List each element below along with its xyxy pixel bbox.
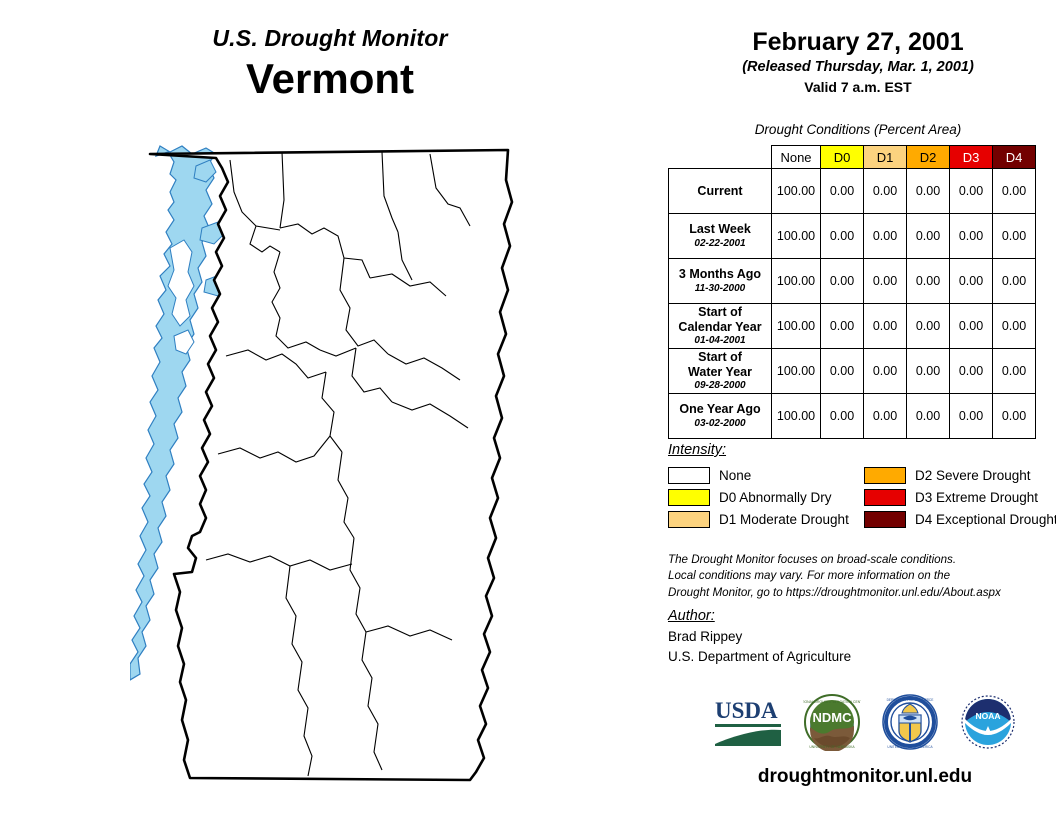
cell-none: 100.00 [772, 259, 821, 304]
legend-label-d1: D1 Moderate Drought [719, 512, 849, 527]
table-caption: Drought Conditions (Percent Area) [660, 122, 1056, 137]
logo-row: USDA NDMC NATIONAL DROUGHT MITIGATION CE… [660, 688, 1056, 760]
row-label-start-calendar-year: Start of Calendar Year 01-04-2001 [669, 304, 772, 349]
noaa-logo[interactable]: NOAA [959, 693, 1017, 756]
cell-d1: 0.00 [864, 349, 907, 394]
row-label-text-line2: Calendar Year [678, 320, 761, 334]
vermont-drought-map[interactable] [130, 140, 550, 790]
cell-d3: 0.00 [950, 349, 993, 394]
cell-d2: 0.00 [907, 214, 950, 259]
valid-date: February 27, 2001 [660, 28, 1056, 56]
legend-swatch-none [668, 467, 710, 484]
legend-swatch-d0 [668, 489, 710, 506]
legend-item-d4: D4 Exceptional Drought [864, 511, 1054, 528]
cell-d0: 0.00 [821, 304, 864, 349]
usda-logo[interactable]: USDA [713, 694, 783, 755]
info-panel: February 27, 2001 (Released Thursday, Ma… [660, 0, 1056, 816]
legend-swatch-d3 [864, 489, 906, 506]
note-line-2: Local conditions may vary. For more info… [668, 568, 1048, 584]
table-row: 3 Months Ago 11-30-2000 100.00 0.00 0.00… [669, 259, 1036, 304]
row-label-text: One Year Ago [679, 402, 760, 416]
cell-d1: 0.00 [864, 304, 907, 349]
ndmc-logo-text: NDMC [813, 710, 853, 725]
usdc-ring-bottom-text: UNITED STATES OF AMERICA [887, 745, 933, 749]
cell-d2: 0.00 [907, 169, 950, 214]
row-label-3-months-ago: 3 Months Ago 11-30-2000 [669, 259, 772, 304]
legend-swatch-d4 [864, 511, 906, 528]
cell-d0: 0.00 [821, 214, 864, 259]
cell-d4: 0.00 [993, 349, 1036, 394]
column-header-d1: D1 [864, 146, 907, 169]
legend-item-d0: D0 Abnormally Dry [668, 489, 864, 506]
noaa-logo-text: NOAA [975, 711, 1000, 721]
row-label-one-year-ago: One Year Ago 03-02-2000 [669, 394, 772, 439]
legend-item-none: None [668, 467, 864, 484]
cell-d3: 0.00 [950, 394, 993, 439]
row-label-text-line1: Start of [698, 350, 742, 364]
cell-d0: 0.00 [821, 169, 864, 214]
legend-label-d3: D3 Extreme Drought [915, 490, 1038, 505]
table-row: Current 100.00 0.00 0.00 0.00 0.00 0.00 [669, 169, 1036, 214]
ndmc-ring-bottom-text: UNIVERSITY OF NEBRASKA [809, 745, 855, 749]
cell-d1: 0.00 [864, 394, 907, 439]
legend-item-d1: D1 Moderate Drought [668, 511, 864, 528]
author-block: Author: Brad Rippey U.S. Department of A… [668, 608, 1048, 666]
cell-d1: 0.00 [864, 169, 907, 214]
cell-d3: 0.00 [950, 214, 993, 259]
legend-title: Intensity: [668, 442, 1048, 458]
row-label-date: 11-30-2000 [672, 283, 768, 295]
row-label-text-line2: Water Year [688, 365, 752, 379]
cell-d1: 0.00 [864, 214, 907, 259]
table-row: Last Week 02-22-2001 100.00 0.00 0.00 0.… [669, 214, 1036, 259]
cell-d0: 0.00 [821, 259, 864, 304]
legend-label-d2: D2 Severe Drought [915, 468, 1031, 483]
page-title: U.S. Drought Monitor [0, 26, 660, 51]
cell-none: 100.00 [772, 214, 821, 259]
vermont-state-outline [150, 150, 512, 780]
row-label-text-line1: Start of [698, 305, 742, 319]
author-title: Author: [668, 608, 1048, 624]
disclaimer-note: The Drought Monitor focuses on broad-sca… [668, 552, 1048, 601]
column-header-d3: D3 [950, 146, 993, 169]
date-block: February 27, 2001 (Released Thursday, Ma… [660, 28, 1056, 95]
usdc-seal-logo[interactable]: DEPARTMENT OF COMMERCE UNITED STATES OF … [881, 693, 939, 756]
table-row: One Year Ago 03-02-2000 100.00 0.00 0.00… [669, 394, 1036, 439]
state-title: Vermont [0, 55, 660, 103]
row-label-current: Current [669, 169, 772, 214]
note-line-1: The Drought Monitor focuses on broad-sca… [668, 552, 1048, 568]
table-row: Start of Calendar Year 01-04-2001 100.00… [669, 304, 1036, 349]
cell-none: 100.00 [772, 304, 821, 349]
usdc-ring-top-text: DEPARTMENT OF COMMERCE [887, 698, 934, 702]
cell-d4: 0.00 [993, 259, 1036, 304]
cell-d2: 0.00 [907, 304, 950, 349]
table-row: Start of Water Year 09-28-2000 100.00 0.… [669, 349, 1036, 394]
cell-d0: 0.00 [821, 349, 864, 394]
column-header-d0: D0 [821, 146, 864, 169]
legend-label-d4: D4 Exceptional Drought [915, 512, 1056, 527]
cell-d4: 0.00 [993, 214, 1036, 259]
ndmc-logo[interactable]: NDMC NATIONAL DROUGHT MITIGATION CENTER … [803, 693, 861, 756]
note-line-3: Drought Monitor, go to https://droughtmo… [668, 585, 1048, 601]
column-header-d2: D2 [907, 146, 950, 169]
cell-d4: 0.00 [993, 169, 1036, 214]
cell-d0: 0.00 [821, 394, 864, 439]
valid-time: Valid 7 a.m. EST [660, 79, 1056, 95]
legend-item-d3: D3 Extreme Drought [864, 489, 1054, 506]
legend-label-none: None [719, 468, 751, 483]
site-url[interactable]: droughtmonitor.unl.edu [660, 766, 1056, 788]
author-name: Brad Rippey [668, 627, 1048, 647]
cell-d3: 0.00 [950, 304, 993, 349]
drought-conditions-table: None D0 D1 D2 D3 D4 Current 100.00 0.00 … [668, 145, 1036, 439]
cell-d1: 0.00 [864, 259, 907, 304]
ndmc-ring-top-text: NATIONAL DROUGHT MITIGATION CENTER [803, 700, 861, 704]
cell-d4: 0.00 [993, 394, 1036, 439]
cell-d3: 0.00 [950, 169, 993, 214]
row-label-text: 3 Months Ago [679, 267, 761, 281]
legend-item-d2: D2 Severe Drought [864, 467, 1054, 484]
cell-none: 100.00 [772, 169, 821, 214]
row-label-last-week: Last Week 02-22-2001 [669, 214, 772, 259]
author-organization: U.S. Department of Agriculture [668, 647, 1048, 667]
release-date: (Released Thursday, Mar. 1, 2001) [660, 59, 1056, 75]
cell-d3: 0.00 [950, 259, 993, 304]
table-header-row: None D0 D1 D2 D3 D4 [669, 146, 1036, 169]
row-label-date: 03-02-2000 [672, 418, 768, 430]
legend-label-d0: D0 Abnormally Dry [719, 490, 832, 505]
table-corner-cell [669, 146, 772, 169]
usda-logo-text: USDA [715, 698, 778, 723]
column-header-none: None [772, 146, 821, 169]
row-label-text: Last Week [689, 222, 751, 236]
map-panel: U.S. Drought Monitor Vermont [0, 0, 660, 816]
legend-swatch-d2 [864, 467, 906, 484]
row-label-date: 01-04-2001 [672, 335, 768, 347]
row-label-text: Current [697, 184, 742, 198]
cell-d2: 0.00 [907, 349, 950, 394]
cell-d4: 0.00 [993, 304, 1036, 349]
cell-none: 100.00 [772, 394, 821, 439]
intensity-legend: Intensity: None D2 Severe Drought D0 Abn… [668, 442, 1048, 530]
cell-d2: 0.00 [907, 259, 950, 304]
title-block: U.S. Drought Monitor Vermont [0, 26, 660, 104]
cell-d2: 0.00 [907, 394, 950, 439]
cell-none: 100.00 [772, 349, 821, 394]
legend-swatch-d1 [668, 511, 710, 528]
row-label-date: 02-22-2001 [672, 238, 768, 250]
row-label-start-water-year: Start of Water Year 09-28-2000 [669, 349, 772, 394]
column-header-d4: D4 [993, 146, 1036, 169]
row-label-date: 09-28-2000 [672, 380, 768, 392]
